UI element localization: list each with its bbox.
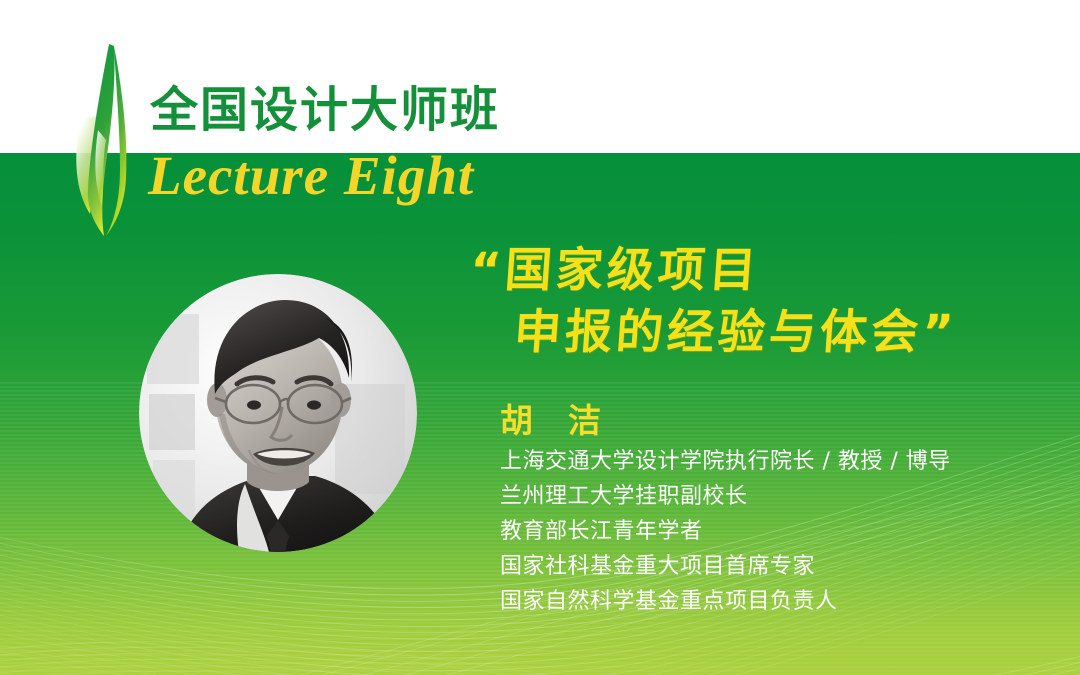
speaker-portrait	[139, 274, 417, 552]
speaker-name: 胡 洁	[500, 394, 602, 442]
credential-line: 国家自然科学基金重点项目负责人	[500, 584, 1020, 619]
lecture-poster: 全国设计大师班 Lecture Eight	[0, 0, 1080, 675]
credential-line: 兰州理工大学挂职副校长	[500, 479, 1020, 514]
credential-line: 教育部长江青年学者	[500, 514, 1020, 549]
lecture-title: “国家级项目 申报的经验与体会”	[470, 240, 1030, 364]
credential-line: 国家社科基金重大项目首席专家	[500, 549, 1020, 584]
speaker-credentials: 上海交通大学设计学院执行院长 / 教授 / 博导 兰州理工大学挂职副校长 教育部…	[500, 444, 1020, 619]
program-title-cn: 全国设计大师班	[150, 86, 500, 134]
sprout-leaf-logo	[52, 38, 162, 243]
credential-line: 上海交通大学设计学院执行院长 / 教授 / 博导	[500, 444, 1020, 479]
lecture-label-en: Lecture Eight	[148, 148, 474, 203]
lecture-title-line-2: 申报的经验与体会”	[468, 302, 1032, 364]
lecture-title-line-1: “国家级项目	[468, 240, 1032, 302]
